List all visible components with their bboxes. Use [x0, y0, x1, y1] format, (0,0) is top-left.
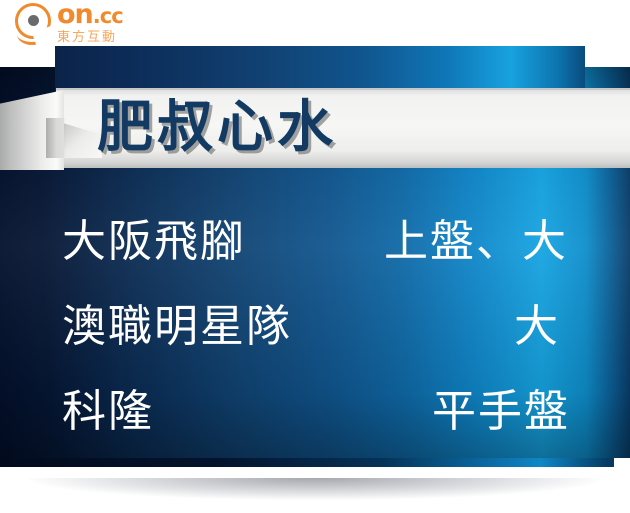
logo-text-group: on.cc 東方互動 [57, 2, 123, 45]
list-item: 科隆 平手盤 [0, 364, 630, 449]
list-item: 大阪飛腳 上盤、大 [0, 194, 630, 279]
logo-suffix: .cc [93, 4, 123, 28]
page-title: 肥叔心水 [97, 92, 337, 164]
list-item: 澳職明星隊 大 [0, 279, 630, 364]
match-team: 澳職明星隊 [62, 290, 292, 354]
logo-wordmark: on.cc [57, 2, 123, 29]
match-team: 大阪飛腳 [62, 205, 246, 269]
slide-drop-shadow [28, 478, 602, 500]
match-tip: 大 [514, 290, 560, 354]
ribbon-fold [0, 90, 64, 170]
logo-brand: on [57, 0, 93, 30]
logo-subtitle: 東方互動 [57, 30, 123, 45]
match-tip: 上盤、大 [384, 205, 568, 269]
logo-bar: on.cc 東方互動 [0, 0, 630, 46]
on-cc-circle-logo-icon [14, 2, 54, 42]
slide-bottom-notch [614, 458, 630, 467]
match-team: 科隆 [62, 375, 154, 439]
header-accent-strip [55, 46, 585, 92]
slide-bottom-bar [0, 458, 614, 467]
content-slide: 肥叔心水 大阪飛腳 上盤、大 澳職明星隊 大 科隆 平手盤 [0, 46, 630, 481]
prediction-list: 大阪飛腳 上盤、大 澳職明星隊 大 科隆 平手盤 [0, 194, 630, 449]
site-logo[interactable]: on.cc 東方互動 [14, 2, 123, 45]
title-banner-edge [56, 88, 630, 90]
match-tip: 平手盤 [432, 375, 570, 439]
ribbon-face [0, 90, 64, 170]
